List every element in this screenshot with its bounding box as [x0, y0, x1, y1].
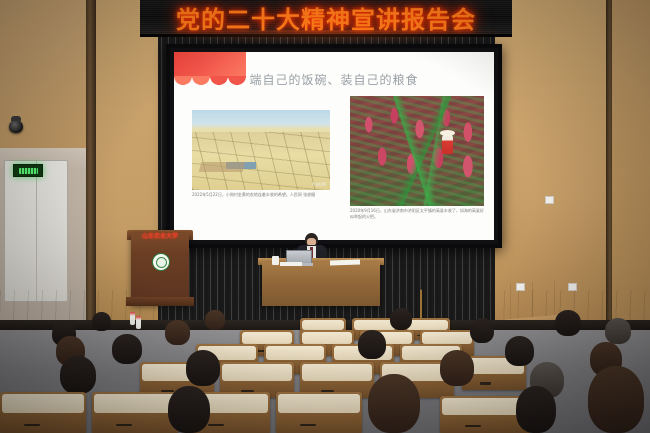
documents — [280, 262, 302, 266]
farmland-fields — [192, 132, 330, 190]
seat — [92, 392, 178, 433]
attendee-head — [165, 320, 190, 345]
podium-sign-text: 山东农业大学 — [131, 231, 189, 240]
led-banner: 党的二十大精神宣讲报告会 — [140, 0, 512, 37]
attendee-head — [168, 386, 210, 433]
attendee-head — [358, 330, 386, 359]
wall-outlet-icon — [545, 196, 554, 204]
water-bottle-icon — [130, 312, 135, 325]
sorghum-field-photo — [350, 96, 484, 206]
right-photo-caption: 2020年9月16日，山东省济南市济阳区太平镇的高粱丰收了，如海的高粱好似举起的… — [350, 208, 486, 220]
sorghum-leaves — [350, 96, 484, 206]
left-photo-caption: 2022年5月22日，小岗村金黄的农地连着丰收的希望。人民网 张俊摄 — [192, 192, 334, 198]
attendee-head — [588, 366, 644, 433]
water-cup-icon — [272, 256, 279, 265]
seat — [276, 392, 362, 433]
aerial-farmland-photo: 人民网 — [192, 110, 330, 190]
attendee-head — [186, 350, 220, 386]
floor-cable — [300, 300, 368, 319]
attendee-head — [368, 374, 420, 433]
projection-screen: 端自己的饭碗、装自己的粮食 人民网 2022年5月22日，小岗村金黄的农地连着丰… — [166, 44, 502, 248]
documents — [330, 259, 360, 265]
slide-title: 端自己的饭碗、装自己的粮食 — [174, 71, 494, 88]
photo-watermark: 人民网 — [311, 181, 326, 188]
attendee-head — [390, 308, 412, 330]
white-double-door[interactable] — [4, 160, 68, 302]
auditorium-photo: 党的二十大精神宣讲报告会 端自己的饭碗、装自己的粮食 人民网 2022年5月22… — [0, 0, 650, 433]
seat — [0, 392, 86, 433]
attendee-head — [470, 318, 494, 343]
attendee-head — [60, 356, 96, 394]
attendee-head — [112, 334, 142, 364]
podium-base — [126, 297, 194, 306]
presentation-slide: 端自己的饭碗、装自己的粮食 人民网 2022年5月22日，小岗村金黄的农地连着丰… — [174, 52, 494, 240]
right-wall-paneling — [495, 0, 620, 330]
attendee-head — [605, 318, 631, 344]
attendee-head — [505, 336, 534, 366]
dome-security-camera-icon — [9, 120, 23, 133]
left-pillar — [86, 0, 96, 330]
attendee-head — [92, 312, 111, 331]
attendee-head — [516, 386, 556, 433]
university-emblem-icon — [152, 253, 170, 271]
attendee-head — [205, 310, 225, 330]
attendee-head — [440, 350, 474, 386]
far-right-wall — [612, 0, 650, 330]
water-bottle-icon — [136, 316, 141, 329]
led-banner-text: 党的二十大精神宣讲报告会 — [176, 0, 476, 35]
field-plot — [199, 162, 245, 172]
emergency-exit-sign — [13, 164, 43, 177]
farmer-figure — [442, 134, 453, 154]
attendee-head — [555, 310, 581, 336]
